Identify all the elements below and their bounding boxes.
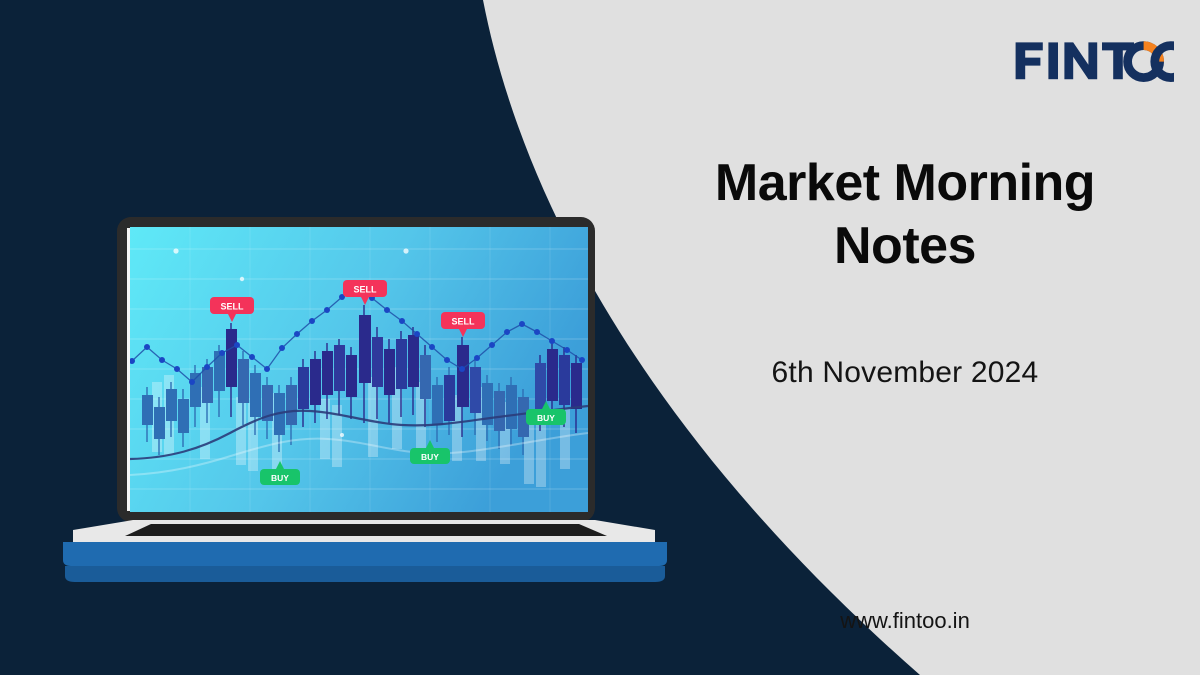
annotation-buy-2-label: BUY xyxy=(421,452,439,462)
trading-chart: SELL SELL SELL BUY xyxy=(130,227,588,512)
candle-sell-3 xyxy=(457,345,469,407)
fintoo-logo[interactable] xyxy=(1014,36,1174,84)
page-title: Market Morning Notes xyxy=(640,152,1170,279)
publication-date: 6th November 2024 xyxy=(640,356,1170,390)
annotation-sell-1-label: SELL xyxy=(220,302,244,312)
website-url[interactable]: www.fintoo.in xyxy=(640,608,1170,634)
laptop-front-bar xyxy=(63,542,667,566)
candle-sell-1 xyxy=(226,329,237,387)
annotation-sell-3-label: SELL xyxy=(451,317,475,327)
laptop-screen: SELL SELL SELL BUY xyxy=(130,227,588,512)
laptop-keyboard-area xyxy=(125,524,607,536)
candle-sell-2 xyxy=(359,315,371,383)
page-title-line-1: Market Morning xyxy=(640,152,1170,215)
fintoo-logo-o-second xyxy=(1155,46,1174,78)
annotation-buy-1-label: BUY xyxy=(271,473,289,483)
annotation-buy-3-label: BUY xyxy=(537,413,555,423)
poster-canvas: Market Morning Notes 6th November 2024 w… xyxy=(0,0,1200,675)
annotation-sell-2-label: SELL xyxy=(353,285,377,295)
page-title-line-2: Notes xyxy=(640,215,1170,278)
laptop-front-bar-shadow xyxy=(65,566,665,582)
fintoo-logo-mark xyxy=(1014,36,1174,84)
